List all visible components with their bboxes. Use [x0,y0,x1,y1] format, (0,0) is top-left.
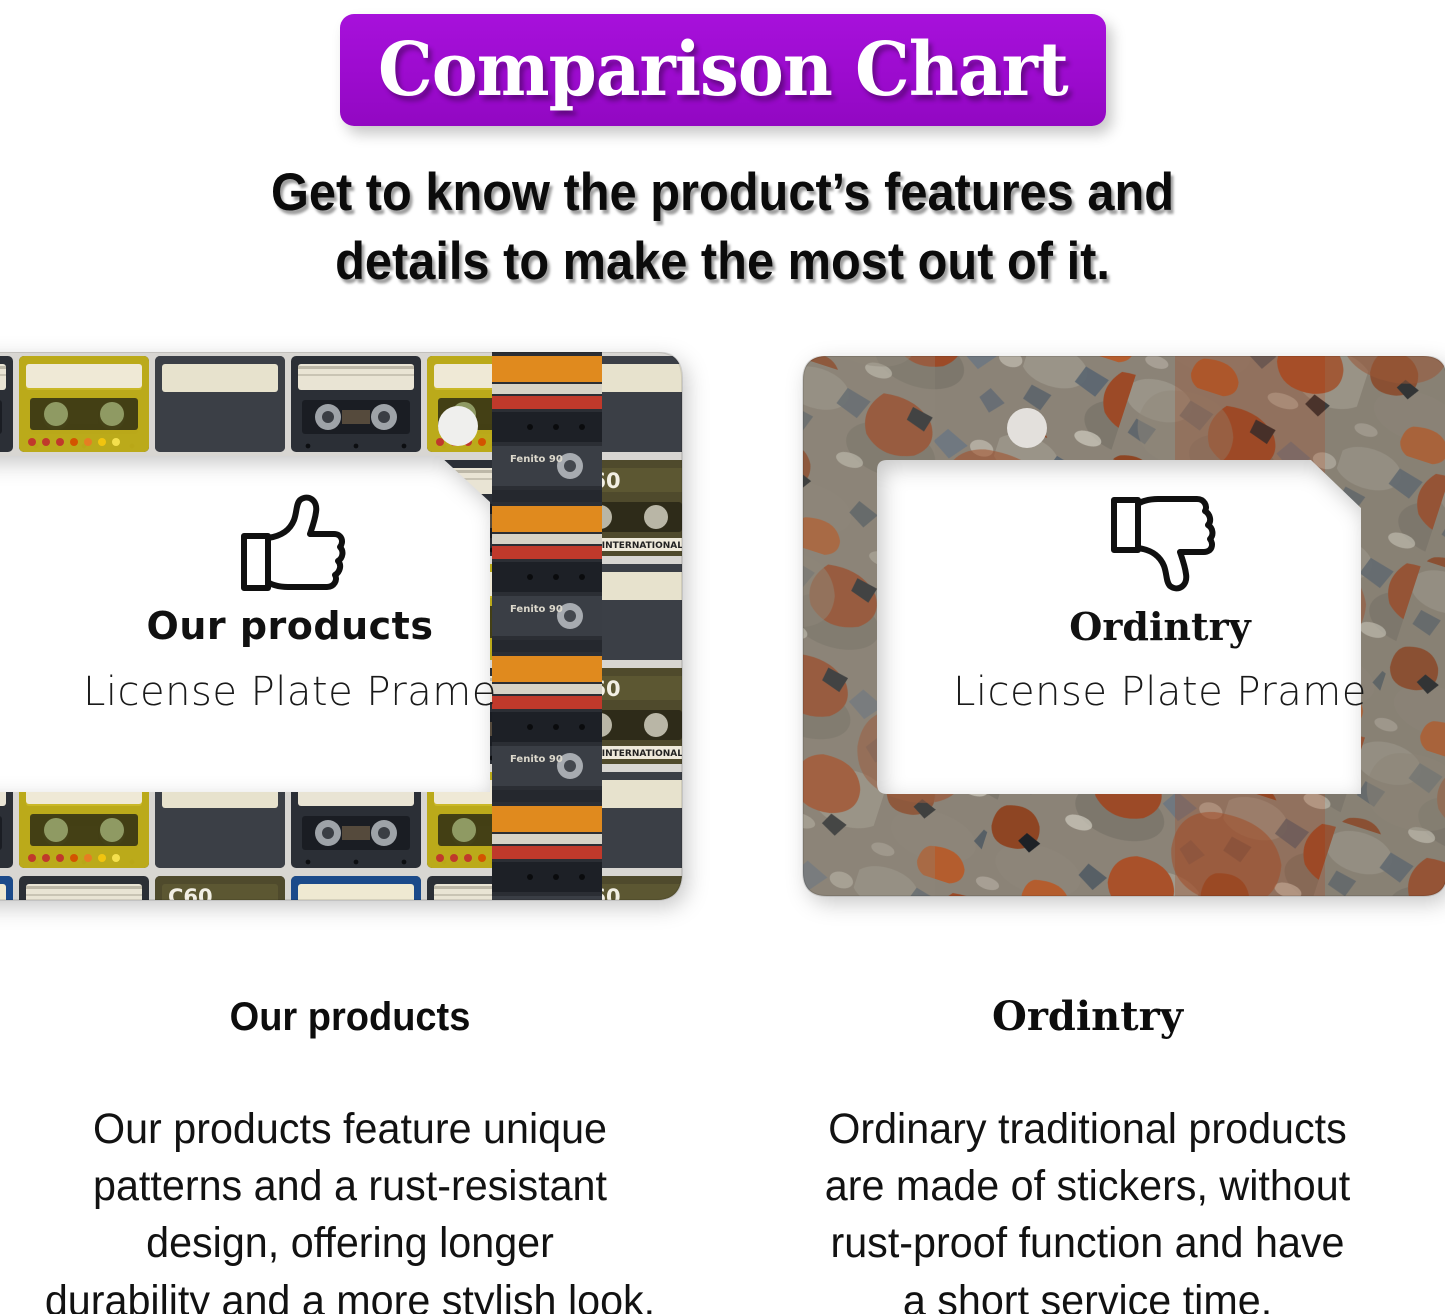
ordinary-product-summary-heading: Ordintry [730,995,1445,1039]
mounting-hole-icon [438,406,478,446]
our-product-heading: Our products [0,606,580,648]
ordinary-product-subheading: License Plate Prame [880,670,1440,714]
our-product-window-content: Our products License Plate Prame [0,492,580,714]
thumbs-down-icon [1100,492,1220,596]
ordinary-product-summary: Ordintry Ordinary traditional products a… [730,995,1445,1314]
summary-line: are made of stickers, without [758,1158,1418,1215]
summary-line: a short service time. [758,1273,1418,1314]
thumbs-up-icon [230,492,350,596]
our-product-summary-heading: Our products [18,995,683,1039]
summary-line: rust-proof function and have [758,1215,1418,1272]
summary-line: Ordinary traditional products [758,1101,1418,1158]
our-product-summary: Our products Our products feature unique… [0,995,700,1314]
ordinary-product-heading: Ordintry [880,606,1440,648]
summary-line: durability and a more stylish look. [22,1273,679,1314]
comparison-chart-page: Comparison Chart Get to know the product… [0,0,1445,1314]
our-product-subheading: License Plate Prame [0,670,580,714]
ordinary-product-window-content: Ordintry License Plate Prame [880,492,1440,714]
our-product-summary-body: Our products feature unique patterns and… [14,1101,686,1314]
ordinary-product-summary-body: Ordinary traditional products are made o… [744,1101,1430,1314]
summary-line: patterns and a rust-resistant [22,1158,679,1215]
summary-line: design, offering longer [22,1215,679,1272]
mounting-hole-icon [1007,408,1047,448]
summary-line: Our products feature unique [22,1101,679,1158]
